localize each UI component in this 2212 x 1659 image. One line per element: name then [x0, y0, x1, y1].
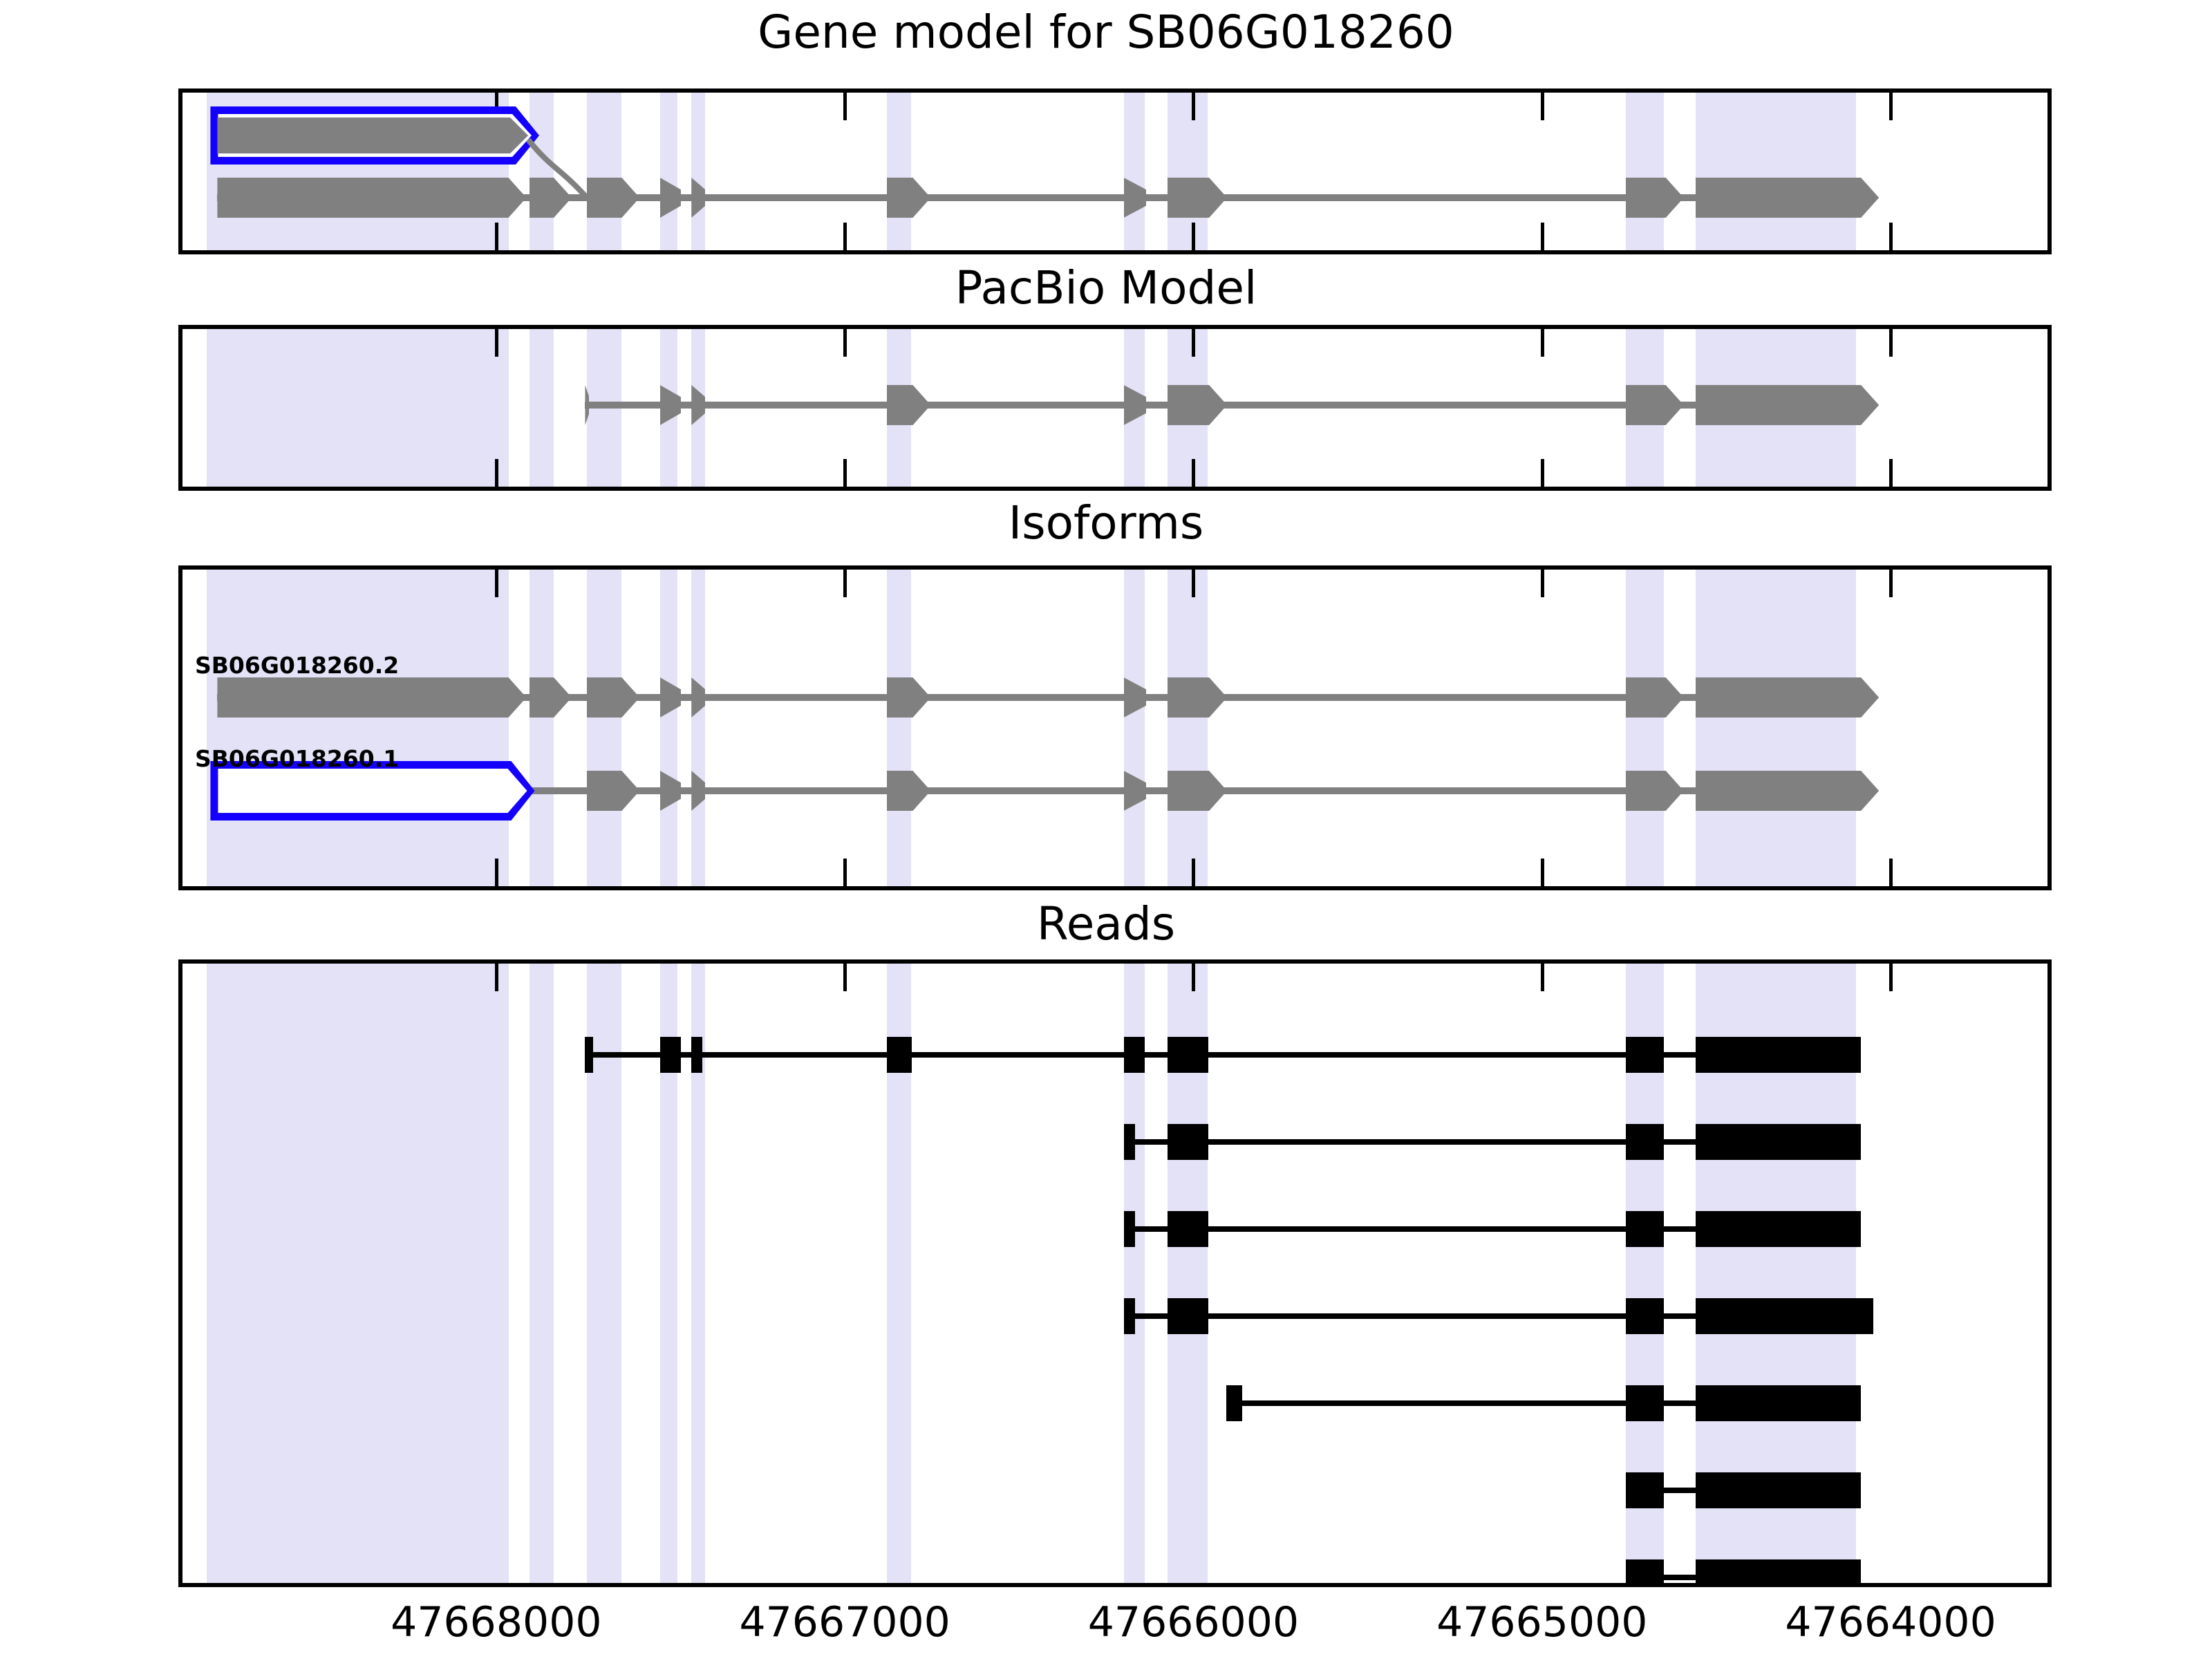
highlight-band [887, 93, 911, 250]
axis-tick [1541, 93, 1544, 120]
axis-tick [495, 223, 498, 250]
highlight-band [1626, 93, 1664, 250]
read-exon-block [1626, 1211, 1664, 1247]
axis-tick [843, 570, 847, 597]
axis-tick [1541, 859, 1544, 886]
highlight-band [529, 93, 554, 250]
x-tick-label: 47668000 [391, 1598, 601, 1647]
highlight-band [691, 93, 705, 250]
exon-block [887, 771, 931, 811]
highlight-band [1124, 570, 1145, 886]
axis-tick [843, 223, 847, 250]
highlight-band [660, 570, 677, 886]
axis-tick [1541, 329, 1544, 357]
read-exon-block [1696, 1211, 1862, 1247]
highlight-band [529, 570, 554, 886]
read-exon-block [1626, 1124, 1664, 1160]
read-exon-block [1696, 1559, 1862, 1583]
axis-tick [495, 329, 498, 357]
exon-block [217, 677, 526, 718]
isoforms-panel: SB06G018260.2SB06G018260.1 [178, 565, 2052, 890]
x-tick-label: 47664000 [1785, 1598, 1996, 1647]
pacbio-model-panel [178, 325, 2052, 491]
exon-block [1626, 385, 1684, 425]
read-exon-block [1696, 1037, 1862, 1073]
highlight-band [1168, 570, 1208, 886]
highlight-band [207, 570, 508, 886]
axis-tick [1889, 329, 1893, 357]
exon-block [1626, 677, 1684, 718]
highlight-band [1626, 570, 1664, 886]
gene-model-plot-area [182, 93, 2047, 250]
highlight-band [1696, 93, 1856, 250]
axis-tick [1192, 93, 1195, 120]
read-exon-block [1168, 1037, 1208, 1073]
axis-tick [843, 329, 847, 357]
isoform-label: SB06G018260.2 [195, 652, 399, 679]
highlight-band [1696, 570, 1856, 886]
read-exon-block [660, 1037, 681, 1073]
axis-tick [843, 459, 847, 487]
highlight-band [207, 964, 508, 1583]
exon-block [587, 771, 639, 811]
highlight-band [529, 964, 554, 1583]
axis-tick [495, 570, 498, 597]
exon-block [1696, 178, 1880, 218]
exon-block [887, 178, 931, 218]
axis-tick [1889, 570, 1893, 597]
axis-tick [495, 964, 498, 991]
highlight-band [207, 329, 508, 487]
reads-title: Reads [0, 897, 2212, 950]
exon-block [1168, 771, 1228, 811]
axis-tick [1889, 859, 1893, 886]
exon-block [587, 178, 639, 218]
axis-tick [495, 459, 498, 487]
exon-block [1696, 385, 1880, 425]
exon-block [887, 677, 931, 718]
highlight-band [887, 570, 911, 886]
axis-tick [1192, 223, 1195, 250]
exon-block [529, 677, 572, 718]
read-exon-block [1626, 1559, 1664, 1583]
axis-tick [843, 859, 847, 886]
genome-browser-figure: Gene model for SB06G018260 PacBio Model … [0, 0, 2212, 1659]
read-exon-block [1626, 1037, 1664, 1073]
exon-block [1168, 178, 1228, 218]
exon-block [587, 677, 639, 718]
axis-tick [1192, 570, 1195, 597]
axis-tick [1541, 223, 1544, 250]
exon-block [660, 178, 681, 218]
highlight-band [691, 570, 705, 886]
read-exon-block [887, 1037, 912, 1073]
read-exon-block [1168, 1211, 1208, 1247]
read-exon-block [1124, 1124, 1135, 1160]
axis-tick [843, 964, 847, 991]
pacbio-plot-area [182, 329, 2047, 487]
exon-block [1168, 677, 1228, 718]
exon-block [1696, 677, 1880, 718]
axis-tick [1192, 459, 1195, 487]
exon-block [1626, 771, 1684, 811]
axis-tick [1192, 859, 1195, 886]
gene-model-title: Gene model for SB06G018260 [0, 6, 2212, 59]
isoforms-title: Isoforms [0, 496, 2212, 550]
read-exon-block [691, 1037, 702, 1073]
x-tick-label: 47667000 [739, 1598, 950, 1647]
read-exon-block [1124, 1211, 1135, 1247]
reads-plot-area [182, 964, 2047, 1583]
exon-block [1696, 771, 1880, 811]
axis-tick [495, 859, 498, 886]
axis-tick [1889, 93, 1893, 120]
read-exon-block [1696, 1385, 1862, 1421]
exon-block [1168, 385, 1228, 425]
isoforms-plot-area: SB06G018260.2SB06G018260.1 [182, 570, 2047, 886]
axis-tick [1889, 223, 1893, 250]
read-exon-block [585, 1037, 593, 1073]
highlight-band [660, 93, 677, 250]
exon-block [887, 385, 931, 425]
highlight-band [1124, 93, 1145, 250]
x-tick-label: 47666000 [1088, 1598, 1299, 1647]
read-exon-block [1626, 1472, 1664, 1508]
x-tick-label: 47665000 [1436, 1598, 1647, 1647]
read-exon-block [1626, 1298, 1664, 1334]
axis-tick [843, 93, 847, 120]
gene-model-panel [178, 88, 2052, 254]
axis-tick [1889, 964, 1893, 991]
read-exon-block [1124, 1298, 1135, 1334]
exon-block [217, 178, 526, 218]
read-exon-block [1168, 1124, 1208, 1160]
read-exon-block [1168, 1298, 1208, 1334]
reads-panel [178, 959, 2052, 1587]
highlight-band [529, 329, 554, 487]
read-exon-block [1696, 1472, 1862, 1508]
read-exon-block [1626, 1385, 1664, 1421]
exon-block [1626, 178, 1684, 218]
axis-tick [1541, 964, 1544, 991]
read-intron-line [585, 1052, 1861, 1058]
exon-block [217, 118, 528, 153]
exon-block [660, 385, 681, 425]
read-exon-block [1124, 1037, 1145, 1073]
axis-tick [1889, 459, 1893, 487]
axis-tick [1541, 459, 1544, 487]
read-exon-block [1226, 1385, 1242, 1421]
axis-tick [1192, 329, 1195, 357]
highlight-band [587, 570, 621, 886]
read-exon-block [1696, 1298, 1873, 1334]
pacbio-model-title: PacBio Model [0, 261, 2212, 315]
highlight-band [1168, 93, 1208, 250]
isoform-label: SB06G018260.1 [195, 745, 399, 772]
axis-tick [1192, 964, 1195, 991]
read-exon-block [1696, 1124, 1862, 1160]
highlight-band [587, 93, 621, 250]
axis-tick [1541, 570, 1544, 597]
exon-block [529, 178, 572, 218]
